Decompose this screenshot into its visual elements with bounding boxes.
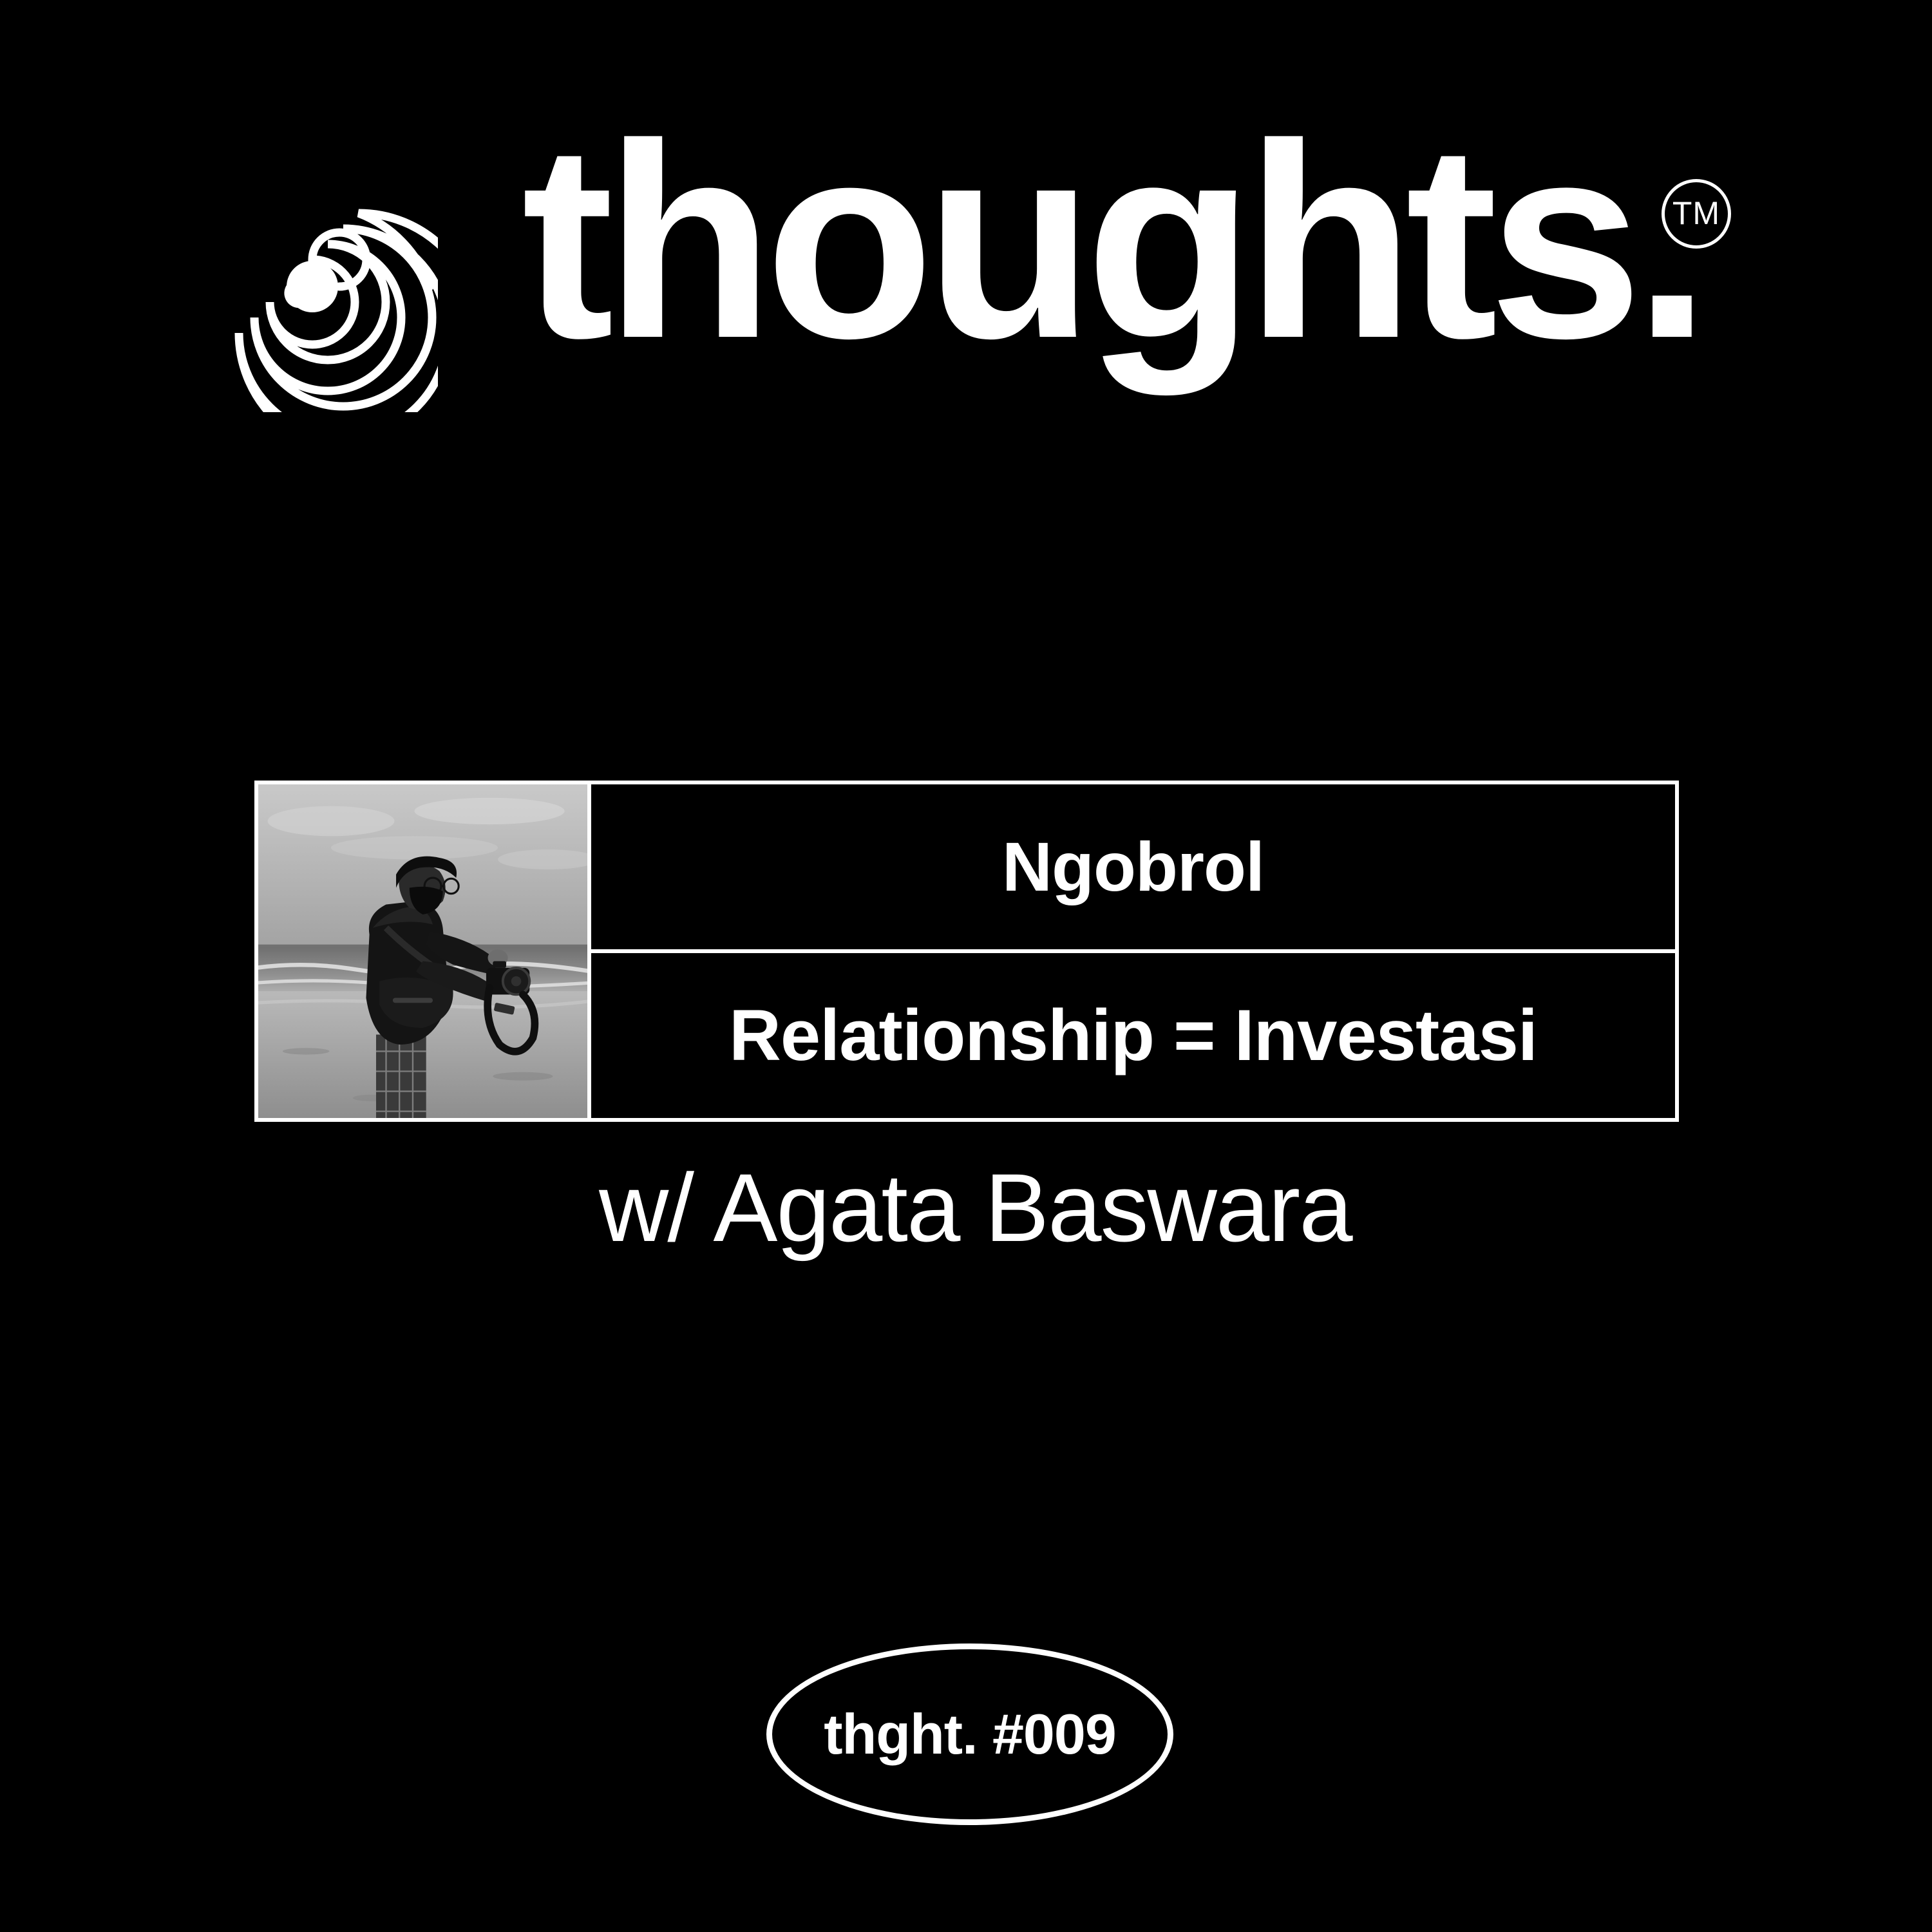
trademark-label: TM [1672, 197, 1720, 229]
episode-card: Ngobrol Relationship = Investasi [254, 781, 1679, 1122]
episode-badge: thght. #009 [766, 1643, 1173, 1825]
host-line: w/ Agata Baswara [599, 1159, 1352, 1256]
episode-title-cell: Relationship = Investasi [591, 949, 1675, 1118]
podcast-cover-poster: thoughts. TM [0, 0, 1932, 1932]
segment-label-cell: Ngobrol [591, 784, 1675, 949]
episode-card-text: Ngobrol Relationship = Investasi [591, 784, 1675, 1118]
episode-title: Relationship = Investasi [729, 999, 1537, 1072]
spiral-icon [187, 161, 438, 412]
brand-header: thoughts. TM [187, 155, 1765, 419]
guest-photo [258, 784, 591, 1118]
brand-wordmark: thoughts. [522, 103, 1701, 380]
segment-label: Ngobrol [1002, 831, 1264, 902]
episode-badge-label: thght. #009 [824, 1706, 1116, 1763]
trademark-icon: TM [1662, 179, 1731, 249]
